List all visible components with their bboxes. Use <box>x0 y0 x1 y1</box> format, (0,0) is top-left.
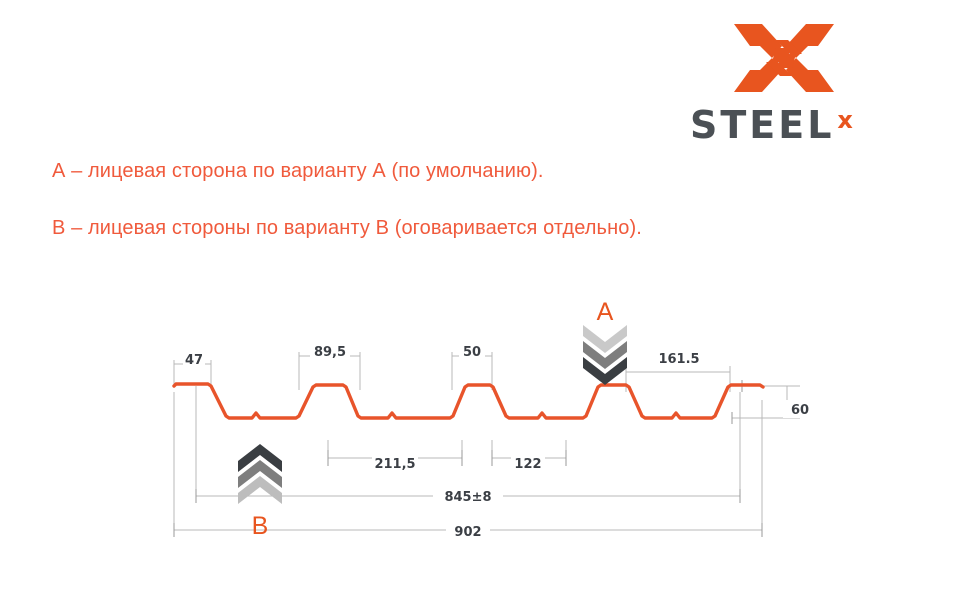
dimension-label-47: 47 <box>185 353 203 368</box>
marker-b-chevrons <box>238 444 282 504</box>
dimension-label-211-5: 211,5 <box>374 457 415 472</box>
dimension-helper-lines <box>174 352 800 532</box>
marker-a: А <box>583 298 627 385</box>
marker-b-label: В <box>252 512 269 540</box>
marker-a-chevrons <box>583 325 627 385</box>
dimension-label-60: 60 <box>791 403 809 418</box>
dimension-label-89-5: 89,5 <box>314 345 346 360</box>
profile-technical-drawing: 47 89,5 50 161.5 211,5 122 845±8 902 60 … <box>0 0 970 597</box>
marker-a-label: А <box>597 298 614 326</box>
dimension-label-902: 902 <box>454 525 481 540</box>
marker-b: В <box>238 444 282 540</box>
dimension-label-161-5: 161.5 <box>658 352 699 367</box>
dimension-label-845: 845±8 <box>444 490 491 505</box>
page-root: STEEL x А – лицевая сторона по варианту … <box>0 0 970 597</box>
dimension-label-50: 50 <box>463 345 481 360</box>
dimension-label-122: 122 <box>514 457 541 472</box>
profile-outline <box>174 384 763 418</box>
